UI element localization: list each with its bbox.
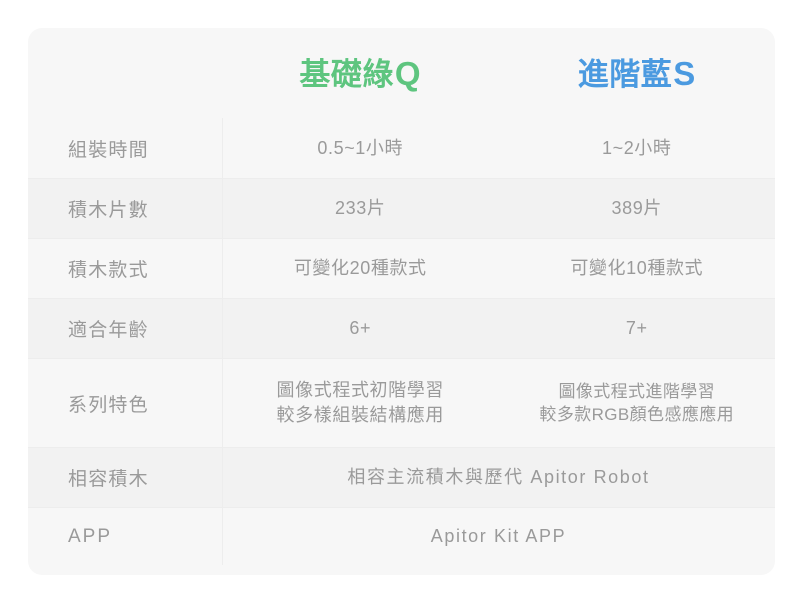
row-value-s: 1~2小時 xyxy=(499,118,776,178)
column-divider xyxy=(222,239,223,298)
table-row: 相容積木 相容主流積木與歷代 Apitor Robot xyxy=(28,447,775,507)
header-column-q-name: 基礎綠 xyxy=(299,57,394,92)
row-value-s-line: 較多款RGB顏色感應應用 xyxy=(539,403,734,426)
row-value-s-line: 圖像式程式進階學習 xyxy=(558,380,715,403)
table-header-row: 基礎綠Q 進階藍S xyxy=(28,28,775,118)
row-value-q-line: 0.5~1小時 xyxy=(317,136,403,161)
row-value-s-line: 1~2小時 xyxy=(602,136,672,161)
row-value-q: 可變化20種款式 xyxy=(222,239,499,298)
column-divider xyxy=(222,359,223,447)
header-column-s: 進階藍S xyxy=(499,57,776,90)
comparison-table-card: 基礎綠Q 進階藍S 組裝時間 0.5~1小時 1~2小時 積木片數 233片 xyxy=(28,28,775,575)
row-label: 相容積木 xyxy=(28,448,222,507)
row-value-s-line: 可變化10種款式 xyxy=(570,256,703,281)
row-value-s: 可變化10種款式 xyxy=(499,239,776,298)
column-divider xyxy=(222,299,223,358)
column-divider xyxy=(222,508,223,565)
table-row: 積木片數 233片 389片 xyxy=(28,178,775,238)
row-value-span-line: Apitor Kit APP xyxy=(431,524,566,549)
row-value-q: 6+ xyxy=(222,299,499,358)
row-value-s-line: 389片 xyxy=(612,196,662,221)
table-body: 組裝時間 0.5~1小時 1~2小時 積木片數 233片 389片 積木款式 xyxy=(28,118,775,565)
row-label: 適合年齡 xyxy=(28,299,222,358)
row-label: 組裝時間 xyxy=(28,118,222,178)
row-value-s-line: 7+ xyxy=(626,316,648,341)
row-value-span: Apitor Kit APP xyxy=(222,508,775,565)
header-column-q-code: Q xyxy=(394,55,421,92)
column-divider xyxy=(222,448,223,507)
row-label: 積木片數 xyxy=(28,179,222,238)
row-value-span: 相容主流積木與歷代 Apitor Robot xyxy=(222,448,775,507)
table-row: APP Apitor Kit APP xyxy=(28,507,775,565)
header-label-spacer xyxy=(28,28,222,118)
header-column-q: 基礎綠Q xyxy=(222,57,499,90)
row-value-q-line: 較多樣組裝結構應用 xyxy=(277,403,444,428)
row-label: 系列特色 xyxy=(28,359,222,447)
header-column-s-name: 進階藍 xyxy=(578,57,673,92)
row-value-q-line: 可變化20種款式 xyxy=(294,256,427,281)
row-value-s: 圖像式程式進階學習 較多款RGB顏色感應應用 xyxy=(499,359,776,447)
row-value-q-line: 233片 xyxy=(335,196,385,221)
column-divider xyxy=(222,179,223,238)
row-value-q: 圖像式程式初階學習 較多樣組裝結構應用 xyxy=(222,359,499,447)
row-value-q-line: 圖像式程式初階學習 xyxy=(277,378,444,403)
table-row: 積木款式 可變化20種款式 可變化10種款式 xyxy=(28,238,775,298)
row-value-q: 0.5~1小時 xyxy=(222,118,499,178)
table-row: 組裝時間 0.5~1小時 1~2小時 xyxy=(28,118,775,178)
row-label: APP xyxy=(28,508,222,565)
header-column-s-code: S xyxy=(672,55,696,92)
row-value-q-line: 6+ xyxy=(349,316,371,341)
row-value-s: 7+ xyxy=(499,299,776,358)
row-value-s: 389片 xyxy=(499,179,776,238)
row-value-q: 233片 xyxy=(222,179,499,238)
table-row: 系列特色 圖像式程式初階學習 較多樣組裝結構應用 圖像式程式進階學習 較多款RG… xyxy=(28,358,775,447)
table-row: 適合年齡 6+ 7+ xyxy=(28,298,775,358)
row-label: 積木款式 xyxy=(28,239,222,298)
row-value-span-line: 相容主流積木與歷代 Apitor Robot xyxy=(347,465,649,490)
column-divider xyxy=(222,118,223,178)
